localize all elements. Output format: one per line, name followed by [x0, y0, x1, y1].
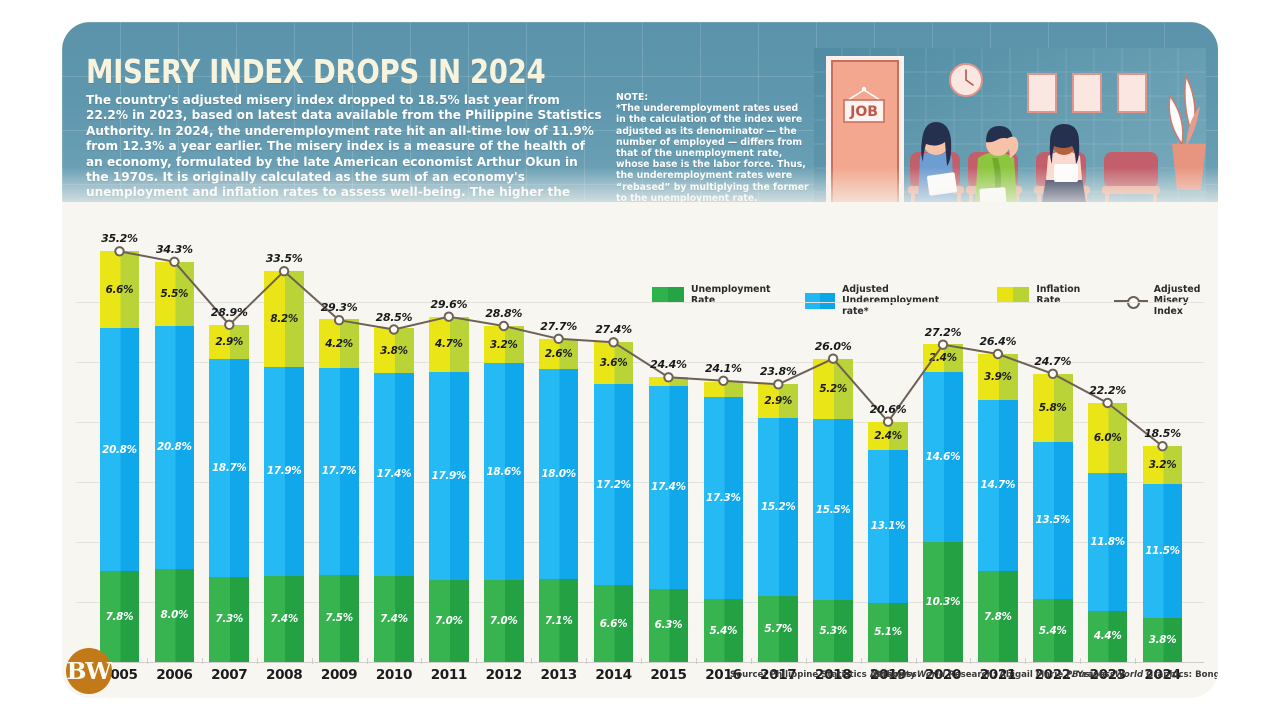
bar-segment-value: 10.3%: [926, 596, 961, 608]
misery-index-value: 24.7%: [1033, 355, 1073, 368]
bar-segment-yellow: 3.8%: [374, 328, 414, 372]
bar-segment-green: 5.7%: [758, 596, 798, 663]
chart-area: Unemployment Rate Adjusted Underemployme…: [62, 202, 1218, 698]
misery-index-value: 27.2%: [923, 326, 963, 339]
bar-segment-value: 20.8%: [102, 444, 137, 456]
bar-segment-yellow: 2.9%: [209, 325, 249, 359]
bar-column: 4.2%17.7%7.5%: [319, 319, 359, 662]
misery-index-value: 28.5%: [374, 311, 414, 324]
bar-segment-value: 3.2%: [1149, 459, 1177, 471]
bar-segment-value: 17.9%: [432, 470, 467, 482]
bar-segment-green: 7.4%: [374, 576, 414, 662]
bar-segment-blue: 17.4%: [649, 386, 689, 589]
bar-segment-value: 4.4%: [1094, 630, 1122, 642]
bar-segment-value: 5.8%: [1039, 402, 1067, 414]
bar-segment-yellow: 3.6%: [594, 342, 634, 384]
bar-segment-yellow: 2.6%: [539, 339, 579, 369]
bar-segment-value: 5.4%: [710, 625, 738, 637]
bar-segment-value: 13.5%: [1035, 514, 1070, 526]
misery-index-value: 28.9%: [209, 306, 249, 319]
bar-segment-blue: 15.2%: [758, 418, 798, 595]
misery-index-value: 27.7%: [539, 320, 579, 333]
x-axis-line: [76, 662, 1204, 663]
credit-graphics: BusinessWorld Graphics: Bong R. Fortin: [1072, 670, 1218, 680]
bar-column: 6.6%20.8%7.8%: [100, 251, 140, 662]
bar-segment-blue: 13.5%: [1033, 442, 1073, 600]
bar-segment-value: 7.8%: [106, 611, 134, 623]
bar-segment-green: 5.3%: [813, 600, 853, 662]
bar-segment-yellow: 8.2%: [264, 271, 304, 367]
bar-segment-value: 7.4%: [380, 613, 408, 625]
x-axis-tick: [531, 658, 532, 664]
bar-segment-green: 7.1%: [539, 579, 579, 662]
bar-segment-value: 15.2%: [761, 501, 796, 513]
bar-segment-yellow: 3.9%: [978, 354, 1018, 400]
bar-column: 4.7%17.9%7.0%: [429, 317, 469, 662]
x-axis-tick: [696, 658, 697, 664]
bar-segment-value: 5.4%: [1039, 625, 1067, 637]
x-axis-tick: [476, 658, 477, 664]
misery-index-value: 35.2%: [99, 232, 139, 245]
misery-index-value: 24.4%: [648, 358, 688, 371]
bar-segment-value: 7.0%: [435, 615, 463, 627]
bar-segment-value: 17.3%: [706, 492, 741, 504]
bar-segment-value: 13.1%: [871, 520, 906, 532]
bar-segment-value: 17.4%: [651, 481, 686, 493]
bar-segment-value: 4.2%: [325, 338, 353, 350]
bar-segment-value: 2.9%: [215, 336, 243, 348]
x-axis-tick: [1135, 658, 1136, 664]
bar-column: 3.6%17.2%6.6%: [594, 342, 634, 662]
x-axis-tick: [806, 658, 807, 664]
infographic-panel: JOB: [62, 22, 1218, 698]
credit-graphics-brand: BusinessWorld: [1072, 670, 1143, 680]
bar-segment-yellow: 2.9%: [758, 384, 798, 418]
bar-segment-value: 6.6%: [106, 284, 134, 296]
bar-segment-value: 17.7%: [322, 465, 357, 477]
bar-segment-green: 5.1%: [868, 603, 908, 663]
bar-segment-blue: 17.3%: [704, 397, 744, 599]
bar-segment-value: 8.0%: [161, 609, 189, 621]
bar-segment-value: 17.2%: [596, 479, 631, 491]
bar-column: 5.8%13.5%5.4%: [1033, 374, 1073, 662]
footer-credits: Source: Philippine Statistics Authority …: [62, 670, 1218, 690]
bar-segment-value: 6.3%: [655, 619, 683, 631]
bar-segment-yellow: 4.7%: [429, 317, 469, 372]
bar-column: 3.2%18.6%7.0%: [484, 326, 524, 662]
x-axis-tick: [970, 658, 971, 664]
page-title: MISERY INDEX DROPS IN 2024: [86, 52, 545, 91]
bar-column: 2.9%15.2%5.7%: [758, 384, 798, 662]
bar-segment-value: 7.0%: [490, 615, 518, 627]
x-axis-tick: [586, 658, 587, 664]
x-axis-tick: [916, 658, 917, 664]
x-axis-tick: [421, 658, 422, 664]
x-axis-tick: [1080, 658, 1081, 664]
bar-column: 5.2%15.5%5.3%: [813, 359, 853, 662]
bar-segment-value: 3.9%: [984, 371, 1012, 383]
bar-segment-yellow: 6.0%: [1088, 403, 1128, 473]
bar-segment-blue: 20.8%: [155, 326, 195, 569]
bar-column: 3.9%14.7%7.8%: [978, 354, 1018, 662]
bar-segment-yellow: 5.5%: [155, 262, 195, 326]
bar-segment-green: 3.8%: [1143, 618, 1183, 662]
bar-segment-value: 15.5%: [816, 504, 851, 516]
bar-segment-yellow: 4.2%: [319, 319, 359, 368]
bar-segment-yellow: 3.2%: [1143, 446, 1183, 483]
bar-segment-value: 5.7%: [764, 623, 792, 635]
bar-segment-green: 7.3%: [209, 577, 249, 662]
bar-segment-blue: 15.5%: [813, 419, 853, 600]
bar-segment-value: 6.6%: [600, 618, 628, 630]
bar-segment-blue: 17.7%: [319, 368, 359, 575]
bar-segment-value: 2.4%: [929, 352, 957, 364]
bar-segment-blue: 14.7%: [978, 400, 1018, 572]
x-axis-tick: [861, 658, 862, 664]
x-axis-tick: [1025, 658, 1026, 664]
x-axis-tick: [202, 658, 203, 664]
bar-segment-blue: 11.8%: [1088, 473, 1128, 611]
hero-banner: JOB: [62, 22, 1218, 227]
bar-segment-value: 17.4%: [377, 468, 412, 480]
bar-segment-yellow: 5.2%: [813, 359, 853, 420]
misery-index-value: 26.0%: [813, 340, 853, 353]
bar-segment-value: 7.8%: [984, 611, 1012, 623]
bar-segment-value: 2.6%: [545, 348, 573, 360]
businessworld-logo: BW: [66, 648, 112, 694]
bar-segment-value: 2.9%: [764, 395, 792, 407]
misery-index-value: 20.6%: [868, 403, 908, 416]
bar-segment-value: 11.5%: [1145, 545, 1180, 557]
note-heading: NOTE:: [616, 92, 811, 103]
bar-segment-value: 14.6%: [926, 451, 961, 463]
x-axis-tick: [312, 658, 313, 664]
bar-segment-green: 7.0%: [429, 580, 469, 662]
bar-segment-yellow: 5.8%: [1033, 374, 1073, 442]
bar-column: 3.8%17.4%7.4%: [374, 328, 414, 662]
misery-index-value: 28.8%: [484, 307, 524, 320]
bar-segment-green: 6.6%: [594, 585, 634, 662]
bar-segment-yellow: 2.4%: [923, 344, 963, 372]
bar-segment-green: 7.8%: [978, 571, 1018, 662]
bar-column: 0.7%17.4%6.3%: [649, 377, 689, 662]
bar-segment-value: 7.1%: [545, 615, 573, 627]
bar-segment-value: 3.2%: [490, 339, 518, 351]
misery-index-value: 24.1%: [703, 362, 743, 375]
bar-segment-blue: 13.1%: [868, 450, 908, 603]
bar-column: 6.0%11.8%4.4%: [1088, 403, 1128, 662]
bar-segment-value: 3.8%: [380, 345, 408, 357]
misery-index-value: 33.5%: [264, 252, 304, 265]
bar-segment-blue: 17.9%: [429, 372, 469, 581]
bar-segment-blue: 17.4%: [374, 373, 414, 576]
misery-index-value: 29.6%: [429, 298, 469, 311]
bar-segment-blue: 18.6%: [484, 363, 524, 580]
bar-segment-value: 4.7%: [435, 338, 463, 350]
misery-index-value: 18.5%: [1143, 427, 1183, 440]
bar-segment-green: 7.8%: [100, 571, 140, 662]
bar-segment-value: 8.2%: [270, 313, 298, 325]
bar-column: 2.4%14.6%10.3%: [923, 344, 963, 662]
bar-segment-green: 4.4%: [1088, 611, 1128, 662]
credit-graphics-text: Graphics: Bong R. Fortin: [1143, 670, 1218, 680]
misery-index-value: 23.8%: [758, 365, 798, 378]
bar-segment-yellow: 0.7%: [649, 377, 689, 385]
infographic-root: JOB: [0, 0, 1280, 720]
bar-segment-green: 10.3%: [923, 542, 963, 662]
bar-column: 8.2%17.9%7.4%: [264, 271, 304, 662]
bar-segment-blue: 20.8%: [100, 328, 140, 571]
plot-region: 6.6%20.8%7.8%5.5%20.8%8.0%2.9%18.7%7.3%8…: [76, 242, 1204, 662]
misery-index-value: 29.3%: [319, 301, 359, 314]
x-axis-tick: [147, 658, 148, 664]
misery-index-value: 34.3%: [154, 243, 194, 256]
bar-segment-value: 14.7%: [981, 479, 1016, 491]
bar-segment-value: 6.0%: [1094, 432, 1122, 444]
misery-index-value: 26.4%: [978, 335, 1018, 348]
bar-segment-green: 6.3%: [649, 589, 689, 663]
bar-segment-green: 8.0%: [155, 569, 195, 662]
bar-segment-value: 18.7%: [212, 462, 247, 474]
svg-text:JOB: JOB: [849, 104, 878, 120]
bar-segment-green: 5.4%: [1033, 599, 1073, 662]
bar-segment-yellow: 3.2%: [484, 326, 524, 363]
bar-segment-blue: 18.0%: [539, 369, 579, 579]
bar-segment-value: 11.8%: [1090, 536, 1125, 548]
bar-segment-yellow: 6.6%: [100, 251, 140, 328]
businessworld-logo-text: BW: [67, 658, 111, 685]
bar-segment-value: 18.0%: [541, 468, 576, 480]
misery-index-value: 27.4%: [594, 323, 634, 336]
bar-column: 2.6%18.0%7.1%: [539, 339, 579, 662]
bar-segment-yellow: 2.4%: [868, 422, 908, 450]
bar-column: 3.2%11.5%3.8%: [1143, 446, 1183, 662]
bar-segment-value: 17.9%: [267, 465, 302, 477]
x-axis-tick: [367, 658, 368, 664]
bar-segment-blue: 17.2%: [594, 384, 634, 585]
bar-segment-green: 7.0%: [484, 580, 524, 662]
bar-segment-value: 7.5%: [325, 612, 353, 624]
bar-segment-blue: 18.7%: [209, 359, 249, 577]
x-axis-tick: [641, 658, 642, 664]
bar-column: 2.9%18.7%7.3%: [209, 325, 249, 662]
bar-segment-green: 5.4%: [704, 599, 744, 662]
x-axis-tick: [751, 658, 752, 664]
bar-column: 1.3%17.3%5.4%: [704, 382, 744, 662]
bar-segment-value: 3.6%: [600, 357, 628, 369]
bar-segment-value: 5.2%: [819, 383, 847, 395]
bar-segment-blue: 11.5%: [1143, 484, 1183, 618]
bar-segment-value: 5.3%: [819, 625, 847, 637]
bar-segment-value: 18.6%: [486, 466, 521, 478]
bar-segment-value: 20.8%: [157, 441, 192, 453]
bar-segment-value: 3.8%: [1149, 634, 1177, 646]
misery-index-value: 22.2%: [1088, 384, 1128, 397]
bar-segment-blue: 14.6%: [923, 372, 963, 542]
x-axis-tick: [257, 658, 258, 664]
bar-segment-blue: 17.9%: [264, 367, 304, 576]
credit-research-brand: BusinessWorld: [874, 670, 945, 680]
bar-column: 5.5%20.8%8.0%: [155, 262, 195, 662]
bar-segment-value: 5.5%: [161, 288, 189, 300]
bar-segment-yellow: 1.3%: [704, 382, 744, 397]
bar-segment-value: 2.4%: [874, 430, 902, 442]
bar-segment-green: 7.4%: [264, 576, 304, 662]
bar-segment-value: 7.3%: [215, 613, 243, 625]
bar-segment-green: 7.5%: [319, 575, 359, 663]
bar-column: 2.4%13.1%5.1%: [868, 422, 908, 662]
bar-segment-value: 5.1%: [874, 626, 902, 638]
bar-segment-value: 7.4%: [270, 613, 298, 625]
